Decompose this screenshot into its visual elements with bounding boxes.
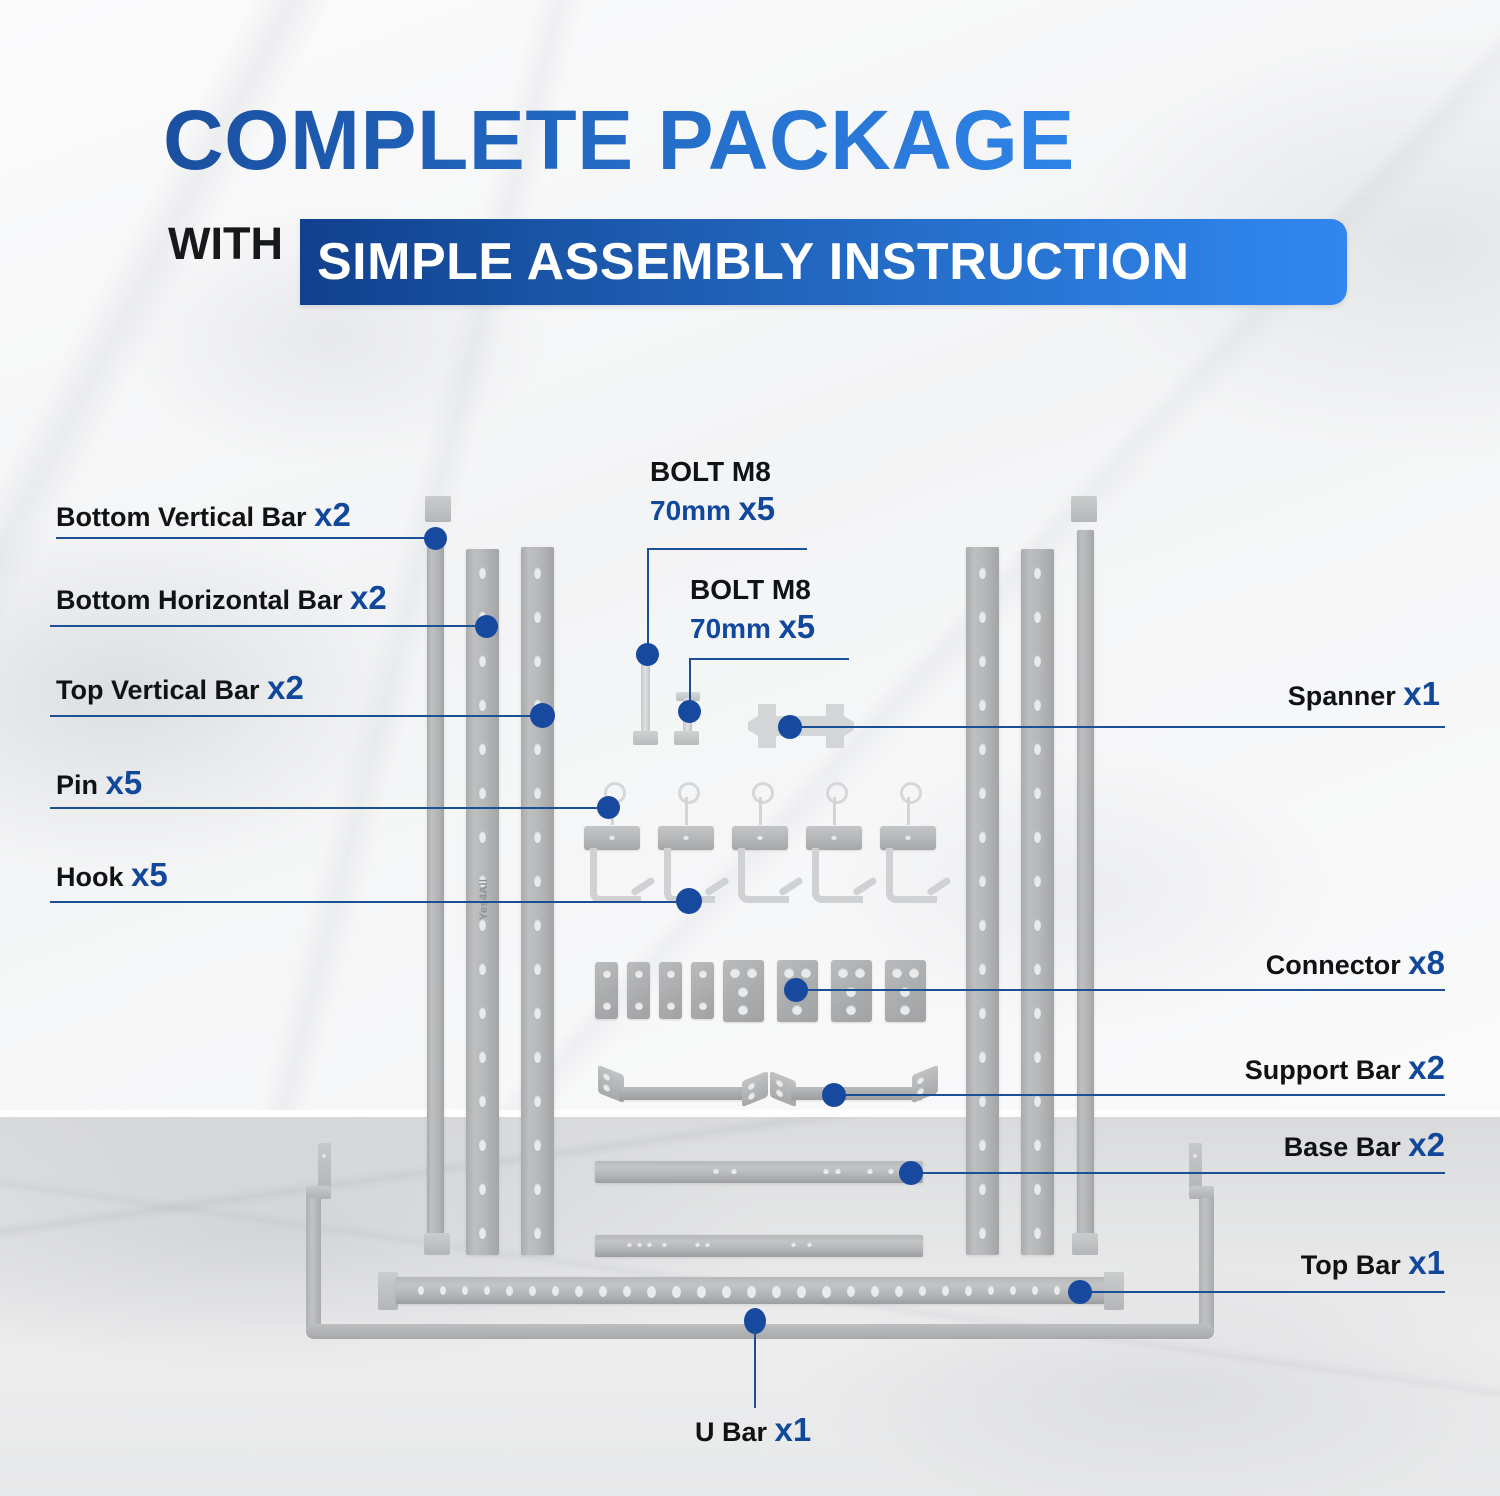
callout-base-bar-dot — [899, 1161, 923, 1185]
callout-hook: Hook x5 — [56, 857, 168, 893]
callout-spanner-leader — [800, 726, 1150, 728]
part-connector-2 — [627, 962, 650, 1019]
callout-support-bar-name: Support Bar — [1245, 1055, 1401, 1085]
callout-u-bar-name: U Bar — [695, 1417, 767, 1447]
part-pin-5-stem — [907, 797, 910, 825]
part-pin-3-ring — [752, 782, 774, 804]
wall-floor-seam — [0, 1110, 1500, 1117]
part-top-bar — [396, 1277, 1108, 1304]
callout-connector-leader — [805, 989, 1130, 991]
page-title: COMPLETE PACKAGE — [163, 98, 1075, 182]
callout-support-bar-qty: x2 — [1408, 1049, 1445, 1086]
callout-top-vertical-bar-qty: x2 — [267, 669, 304, 706]
part-pin-3-stem — [759, 797, 762, 825]
part-base-bar-2 — [595, 1235, 923, 1257]
part-bottom-vertical-bar-left-top-cap — [425, 496, 451, 522]
callout-bolt-2-leader-h — [689, 658, 849, 660]
part-bolt-m8-70mm-a-nut — [633, 731, 658, 745]
part-pin-4-stem — [833, 797, 836, 825]
part-bottom-vertical-bar-right-top-cap — [1071, 496, 1097, 522]
callout-pin-underline — [50, 807, 608, 809]
callout-bolt-2: BOLT M8 70mm x5 — [690, 575, 910, 645]
callout-pin: Pin x5 — [56, 765, 142, 801]
part-base-bar-1 — [595, 1161, 923, 1183]
callout-u-bar-leader — [754, 1330, 756, 1408]
part-support-bar-1-body — [620, 1087, 750, 1100]
infographic-canvas: COMPLETE PACKAGE WITH SIMPLE ASSEMBLY IN… — [0, 0, 1500, 1496]
callout-base-bar-name: Base Bar — [1284, 1132, 1401, 1162]
callout-spanner-name: Spanner — [1288, 681, 1396, 711]
callout-top-bar-name: Top Bar — [1301, 1250, 1401, 1280]
part-pin-5-ring — [900, 782, 922, 804]
callout-bottom-horizontal-bar-name: Bottom Horizontal Bar — [56, 585, 343, 615]
callout-bolt-1-leader-v — [647, 548, 649, 653]
callout-connector-underline — [1130, 989, 1445, 991]
part-connector-7 — [831, 960, 872, 1022]
callout-bolt-2-qty: x5 — [778, 608, 815, 645]
callout-support-bar: Support Bar x2 — [1110, 1050, 1445, 1086]
callout-bolt-1-line2: 70mm — [650, 495, 731, 526]
part-top-bar-left-cap — [378, 1272, 398, 1310]
callout-base-bar: Base Bar x2 — [1110, 1127, 1445, 1163]
part-bottom-vertical-bar-left — [427, 530, 444, 1250]
part-bolt-m8-70mm-a-shaft — [641, 659, 650, 736]
part-bottom-vertical-bar-left-bottom-cap — [424, 1233, 450, 1255]
part-hook-2-block — [658, 826, 714, 850]
callout-bolt-2-line1: BOLT M8 — [690, 575, 910, 605]
callout-top-vertical-bar-dot — [530, 703, 555, 728]
part-u-bar-left-post — [306, 1188, 321, 1333]
callout-base-bar-underline — [1130, 1172, 1445, 1174]
part-top-vertical-bar-right — [966, 547, 999, 1255]
callout-pin-dot — [597, 796, 620, 819]
part-bottom-vertical-bar-right — [1077, 530, 1094, 1250]
callout-bottom-horizontal-bar: Bottom Horizontal Bar x2 — [56, 580, 387, 616]
callout-bolt-1-leader-h — [647, 548, 807, 550]
callout-bolt-1-line1: BOLT M8 — [650, 457, 850, 487]
part-connector-3 — [659, 962, 682, 1019]
callout-top-vertical-bar-name: Top Vertical Bar — [56, 675, 260, 705]
callout-bottom-vertical-bar-name: Bottom Vertical Bar — [56, 502, 307, 532]
callout-bottom-horizontal-bar-qty: x2 — [350, 579, 387, 616]
part-bolt-m8-70mm-b-nut — [674, 731, 699, 745]
callout-spanner-dot — [778, 715, 802, 739]
callout-hook-dot — [676, 888, 702, 914]
callout-top-bar-leader — [1090, 1291, 1230, 1293]
callout-hook-qty: x5 — [131, 856, 168, 893]
subtitle-banner: SIMPLE ASSEMBLY INSTRUCTION — [300, 219, 1347, 305]
callout-top-bar: Top Bar x1 — [1110, 1245, 1445, 1281]
part-connector-1 — [595, 962, 618, 1019]
callout-u-bar-qty: x1 — [775, 1411, 812, 1448]
part-pin-4-ring — [826, 782, 848, 804]
callout-bottom-vertical-bar-dot — [424, 527, 447, 550]
part-connector-5 — [723, 960, 764, 1022]
part-hook-5-block — [880, 826, 936, 850]
part-bottom-horizontal-bar-right — [1021, 549, 1054, 1255]
subtitle-banner-text: SIMPLE ASSEMBLY INSTRUCTION — [317, 232, 1190, 292]
part-pin-2-ring — [678, 782, 700, 804]
part-connector-4 — [691, 962, 714, 1019]
callout-bottom-vertical-bar-underline — [56, 537, 428, 539]
callout-bottom-vertical-bar-qty: x2 — [314, 496, 351, 533]
callout-pin-qty: x5 — [106, 764, 143, 801]
callout-top-vertical-bar: Top Vertical Bar x2 — [56, 670, 304, 706]
title-with-word: WITH — [168, 221, 283, 266]
callout-connector-name: Connector — [1266, 950, 1401, 980]
part-hook-4-block — [806, 826, 862, 850]
callout-connector-qty: x8 — [1408, 944, 1445, 981]
callout-bolt-1: BOLT M8 70mm x5 — [650, 457, 850, 527]
callout-hook-underline — [50, 901, 682, 903]
callout-connector: Connector x8 — [1110, 945, 1445, 981]
callout-hook-name: Hook — [56, 862, 124, 892]
callout-bottom-horizontal-bar-underline — [50, 625, 487, 627]
part-connector-8 — [885, 960, 926, 1022]
brand-logo-bar-left: Yes4All — [478, 879, 490, 920]
callout-spanner-qty: x1 — [1403, 675, 1440, 712]
callout-bottom-horizontal-bar-dot — [475, 615, 498, 638]
callout-base-bar-qty: x2 — [1408, 1126, 1445, 1163]
part-pin-2-stem — [685, 797, 688, 825]
callout-connector-dot — [784, 978, 808, 1002]
callout-top-bar-underline — [1225, 1291, 1445, 1293]
callout-u-bar: U Bar x1 — [695, 1412, 811, 1448]
callout-support-bar-underline — [1130, 1094, 1445, 1096]
callout-bolt-1-dot — [636, 643, 659, 666]
callout-bolt-2-dot — [678, 700, 701, 723]
callout-top-bar-dot — [1068, 1280, 1092, 1304]
callout-spanner: Spanner x1 — [1110, 676, 1440, 712]
callout-bottom-vertical-bar: Bottom Vertical Bar x2 — [56, 497, 351, 533]
part-u-bar-left-bracket-foot — [306, 1186, 331, 1198]
part-bottom-vertical-bar-right-bottom-cap — [1072, 1233, 1098, 1255]
callout-top-vertical-bar-underline — [50, 715, 543, 717]
callout-top-bar-qty: x1 — [1408, 1244, 1445, 1281]
part-hook-1-block — [584, 826, 640, 850]
callout-bolt-1-qty: x5 — [738, 490, 775, 527]
callout-support-bar-dot — [822, 1083, 846, 1107]
callout-support-bar-leader — [840, 1094, 1130, 1096]
callout-bolt-2-line2: 70mm — [690, 613, 771, 644]
part-hook-3-block — [732, 826, 788, 850]
part-u-bar-right-bracket-foot — [1189, 1186, 1214, 1198]
callout-spanner-underline — [1150, 726, 1445, 728]
callout-pin-name: Pin — [56, 770, 98, 800]
callout-base-bar-leader — [922, 1172, 1130, 1174]
